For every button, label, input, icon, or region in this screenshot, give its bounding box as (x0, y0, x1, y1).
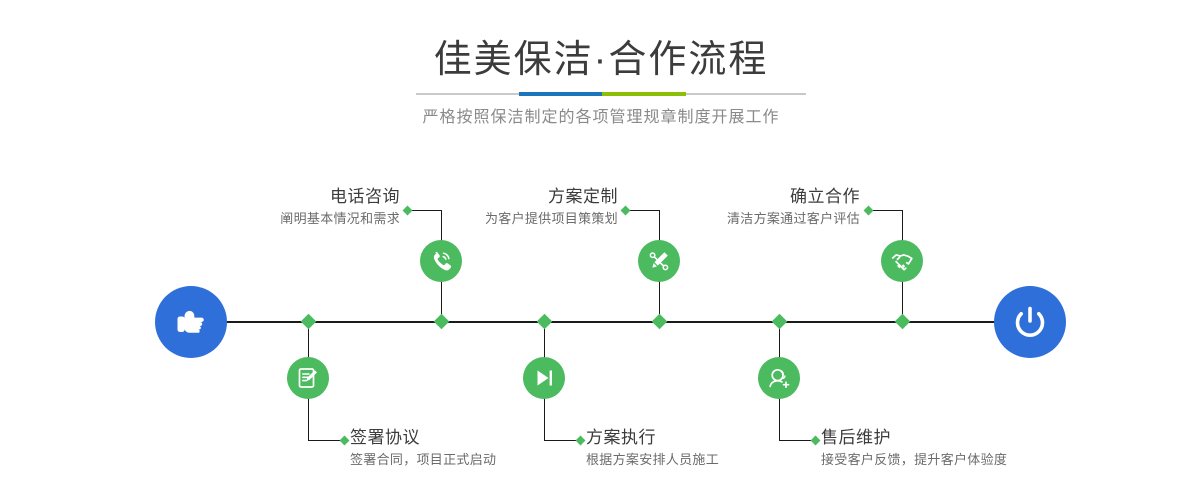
axis-diamond-3 (652, 314, 668, 330)
step-title-6: 售后维护 (821, 427, 1081, 449)
step-title-5: 确立合作 (645, 186, 860, 208)
step-desc-3: 为客户提供项目策策划 (408, 208, 618, 230)
step-desc-1: 阐明基本情况和需求 (190, 208, 400, 230)
connector-dot-5 (864, 206, 874, 216)
page-subtitle: 严格按照保洁制定的各项管理规章制度开展工作 (0, 106, 1202, 130)
axis-diamond-6 (772, 314, 788, 330)
handshake-icon (889, 248, 915, 274)
document-sign-icon (295, 365, 321, 391)
page-title: 佳美保洁·合作流程 (0, 36, 1202, 84)
connector-horizontal-4 (544, 440, 579, 441)
connector-dot-2 (340, 436, 350, 446)
divider-segment-green (602, 92, 686, 96)
divider-segment-blue (519, 92, 602, 96)
step-label-6: 售后维护 接受客户反馈，提升客户体验度 (821, 427, 1081, 471)
step-title-2: 签署协议 (350, 427, 590, 449)
axis-diamond-1 (434, 314, 450, 330)
step-desc-4: 根据方案安排人员施工 (586, 449, 826, 471)
axis-diamond-5 (895, 314, 911, 330)
step-node-4[interactable] (523, 357, 565, 399)
step-desc-6: 接受客户反馈，提升客户体验度 (821, 449, 1081, 471)
step-desc-5: 清洁方案通过客户评估 (645, 208, 860, 230)
customer-support-icon (766, 365, 792, 391)
pencil-ruler-icon (646, 248, 672, 274)
step-node-6[interactable] (758, 357, 800, 399)
step-node-1[interactable] (420, 240, 462, 282)
step-label-5: 确立合作 清洁方案通过客户评估 (645, 186, 860, 230)
step-label-3: 方案定制 为客户提供项目策策划 (408, 186, 618, 230)
step-label-4: 方案执行 根据方案安排人员施工 (586, 427, 826, 471)
thumbs-up-icon (170, 301, 212, 343)
step-label-2: 签署协议 签署合同，项目正式启动 (350, 427, 590, 471)
axis-diamond-2 (301, 314, 317, 330)
step-label-1: 电话咨询 阐明基本情况和需求 (190, 186, 400, 230)
step-node-3[interactable] (638, 240, 680, 282)
connector-horizontal-2 (308, 440, 343, 441)
step-desc-2: 签署合同，项目正式启动 (350, 449, 590, 471)
step-title-1: 电话咨询 (190, 186, 400, 208)
flow-start-endcap (155, 286, 227, 358)
phone-call-icon (428, 248, 454, 274)
connector-horizontal-6 (779, 440, 814, 441)
step-title-4: 方案执行 (586, 427, 826, 449)
cooperation-flow-infographic: 佳美保洁·合作流程 严格按照保洁制定的各项管理规章制度开展工作 (0, 0, 1202, 502)
power-icon (1008, 300, 1052, 344)
step-title-3: 方案定制 (408, 186, 618, 208)
connector-dot-3 (621, 206, 631, 216)
step-node-2[interactable] (287, 357, 329, 399)
flow-end-endcap (994, 286, 1066, 358)
play-execute-icon (531, 365, 557, 391)
title-divider (416, 93, 806, 95)
axis-diamond-4 (537, 314, 553, 330)
step-node-5[interactable] (881, 240, 923, 282)
